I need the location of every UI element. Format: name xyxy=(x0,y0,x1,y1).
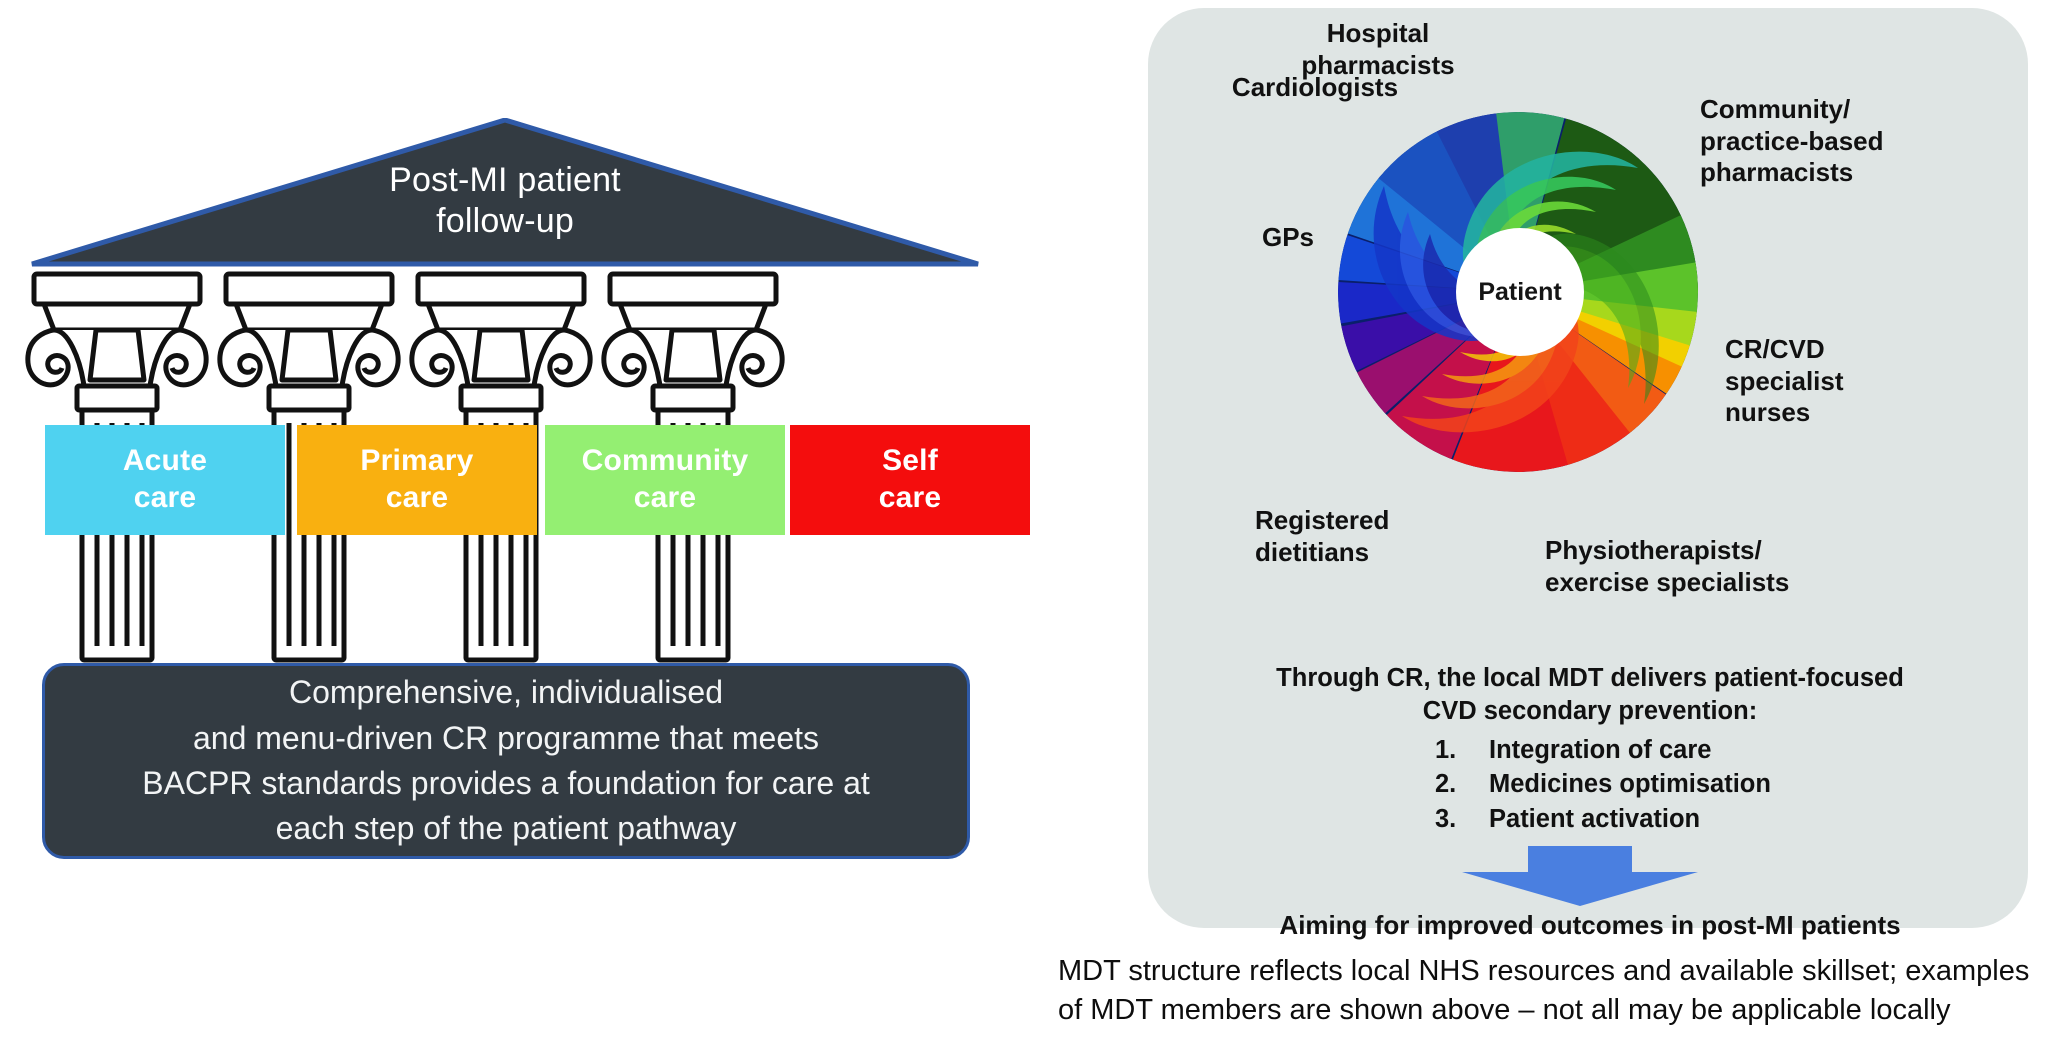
mdt-member-line2: practice-based xyxy=(1700,126,1950,158)
mdt-member-line2: dietitians xyxy=(1255,537,1495,569)
mdt-member-line2: specialist xyxy=(1725,366,1925,398)
care-box-community[interactable]: Community care xyxy=(545,425,785,535)
mdt-member-line1: CR/CVD xyxy=(1725,334,1925,366)
mdt-member-physiotherapists: Physiotherapists/ exercise specialists xyxy=(1545,535,1875,598)
mdt-priority-list: 1. Integration of care 2. Medicines opti… xyxy=(1195,733,1985,835)
pediment: Post-MI patient follow-up xyxy=(30,118,980,270)
list-item: 1. Integration of care xyxy=(1195,733,1985,767)
care-box-self[interactable]: Self care xyxy=(790,425,1030,535)
footnote-line2: of MDT members are shown above – not all… xyxy=(1058,991,2048,1030)
mdt-member-line1: Registered xyxy=(1255,505,1495,537)
mdt-statement-line1: Through CR, the local MDT delivers patie… xyxy=(1195,662,1985,695)
care-box-acute[interactable]: Acute care xyxy=(45,425,285,535)
mdt-member-line1: Physiotherapists/ xyxy=(1545,535,1875,567)
foundation-line2: and menu-driven CR programme that meets xyxy=(142,716,870,761)
mdt-member-line1: Hospital xyxy=(1228,18,1528,50)
foundation-line3: BACPR standards provides a foundation fo… xyxy=(142,761,870,806)
mdt-statement: Through CR, the local MDT delivers patie… xyxy=(1195,662,1985,836)
care-box-label-line1: Self xyxy=(879,443,942,480)
mdt-member-line3: nurses xyxy=(1725,397,1925,429)
pediment-label-line1: Post-MI patient xyxy=(30,160,980,201)
mdt-member-line3: pharmacists xyxy=(1700,157,1950,189)
list-item-text: Integration of care xyxy=(1489,733,1711,767)
foundation-block: Comprehensive, individualised and menu-d… xyxy=(42,663,970,859)
arrow-down-icon xyxy=(1450,846,1710,906)
care-box-label-line2: care xyxy=(123,480,207,517)
patient-hub: Patient xyxy=(1456,228,1584,356)
care-box-label-line1: Acute xyxy=(123,443,207,480)
mdt-member-community-pharmacists: Community/ practice-based pharmacists xyxy=(1700,94,1950,189)
list-item-text: Patient activation xyxy=(1489,802,1700,836)
list-item: 3. Patient activation xyxy=(1195,802,1985,836)
care-box-label-line2: care xyxy=(879,480,942,517)
mdt-member-line1: Community/ xyxy=(1700,94,1950,126)
care-box-label-line1: Primary xyxy=(360,443,473,480)
list-item-text: Medicines optimisation xyxy=(1489,767,1771,801)
list-item: 2. Medicines optimisation xyxy=(1195,767,1985,801)
list-item-number: 1. xyxy=(1435,733,1489,767)
pediment-label-line2: follow-up xyxy=(30,201,980,242)
mdt-member-cardiologists: Cardiologists xyxy=(1205,72,1425,104)
care-box-label-line2: care xyxy=(582,480,749,517)
foundation-text: Comprehensive, individualised and menu-d… xyxy=(116,670,896,852)
mdt-member-gps: GPs xyxy=(1228,222,1348,254)
care-box-label-line2: care xyxy=(360,480,473,517)
foundation-line4: each step of the patient pathway xyxy=(142,806,870,851)
mdt-member-cr-cvd-nurses: CR/CVD specialist nurses xyxy=(1725,334,1925,429)
care-box-primary[interactable]: Primary care xyxy=(297,425,537,535)
foundation-line1: Comprehensive, individualised xyxy=(142,670,870,715)
down-arrow xyxy=(1450,846,1710,906)
mdt-statement-line2: CVD secondary prevention: xyxy=(1195,695,1985,728)
aim-text: Aiming for improved outcomes in post-MI … xyxy=(1150,910,2030,941)
footnote-line1: MDT structure reflects local NHS resourc… xyxy=(1058,952,2048,991)
mdt-member-line2: exercise specialists xyxy=(1545,567,1875,599)
list-item-number: 3. xyxy=(1435,802,1489,836)
pediment-label: Post-MI patient follow-up xyxy=(30,160,980,243)
list-item-number: 2. xyxy=(1435,767,1489,801)
mdt-member-dietitians: Registered dietitians xyxy=(1255,505,1495,568)
care-box-label-line1: Community xyxy=(582,443,749,480)
temple-diagram: Post-MI patient follow-up xyxy=(0,0,1010,1044)
patient-hub-label: Patient xyxy=(1478,278,1561,307)
footnote: MDT structure reflects local NHS resourc… xyxy=(1058,952,2048,1029)
